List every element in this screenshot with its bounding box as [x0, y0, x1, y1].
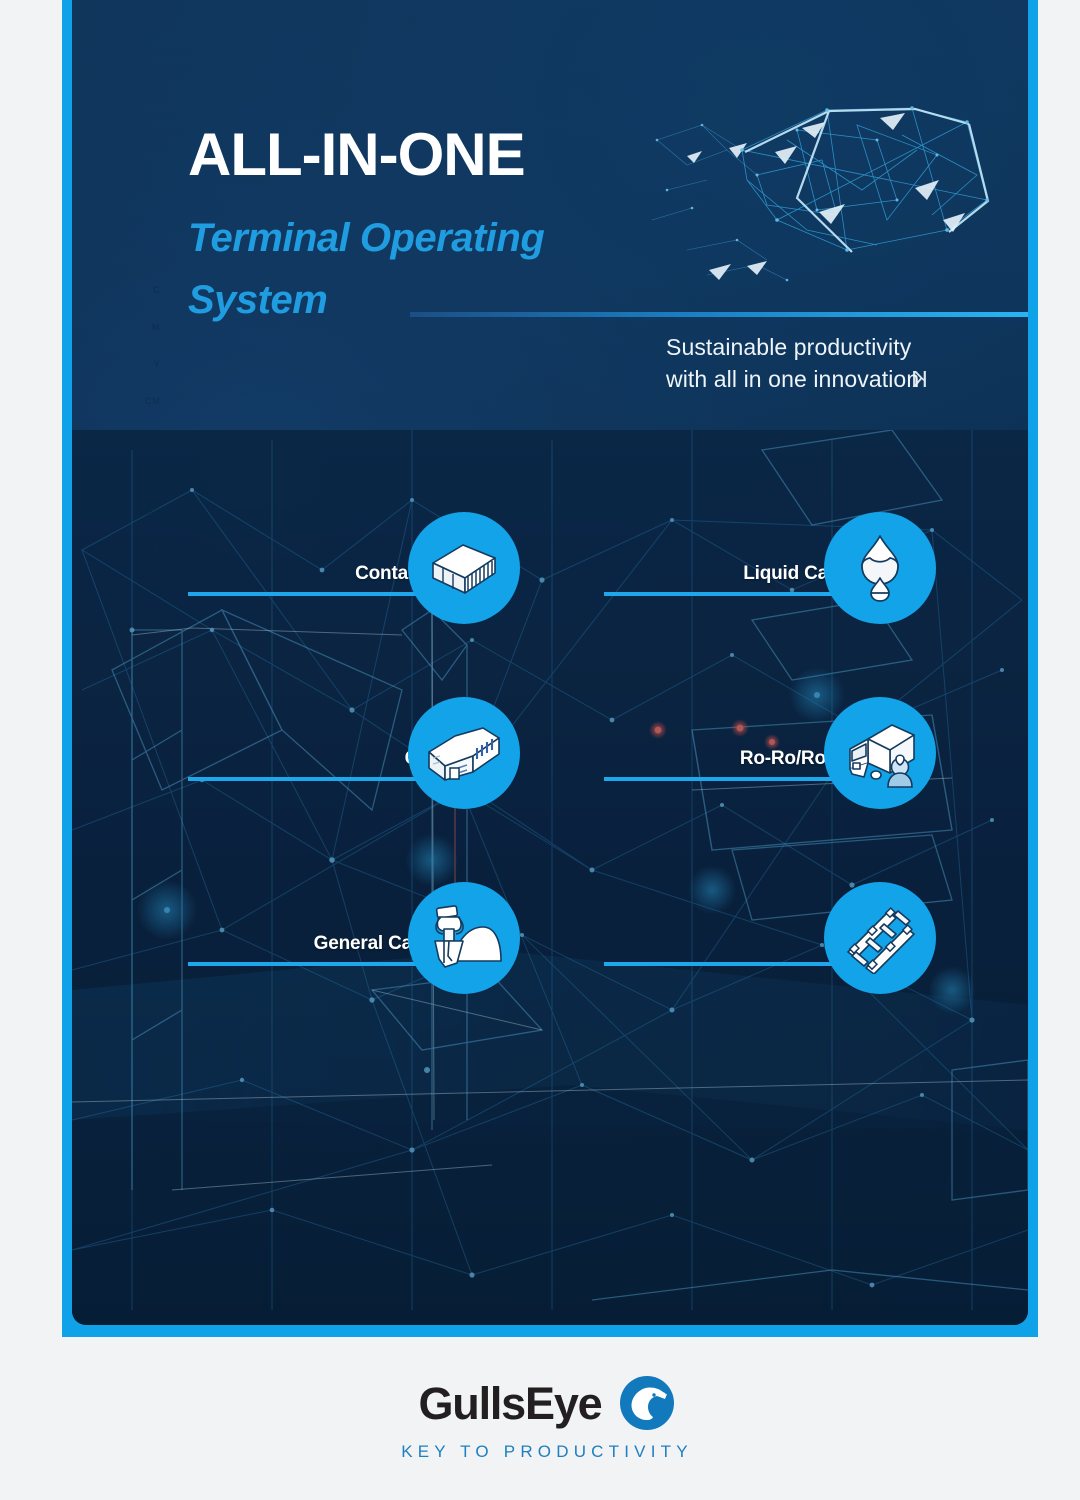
service-item-general-cargo[interactable]: General Cargo	[188, 882, 520, 994]
shipping-container-icon	[427, 531, 501, 605]
poster-page: C M Y CM MY CY CMY K	[0, 0, 1080, 1500]
service-item-liquid-cargo[interactable]: Liquid Cargo	[604, 512, 936, 624]
rail-track-icon	[842, 902, 918, 974]
logo-row: GullsEye	[418, 1375, 675, 1431]
logo-wordmark: GullsEye	[418, 1381, 601, 1426]
logo-tagline: KEY TO PRODUCTIVITY	[401, 1442, 693, 1462]
poster-panel: C M Y CM MY CY CMY K	[72, 0, 1028, 1325]
poster-frame: C M Y CM MY CY CMY K	[62, 0, 1038, 1337]
service-icon-bubble[interactable]	[408, 697, 520, 809]
liquid-droplet-icon	[846, 532, 914, 604]
brand-logo: GullsEye KEY TO PRODUCTIVITY	[401, 1375, 693, 1462]
service-icon-bubble[interactable]	[824, 882, 936, 994]
service-icon-bubble[interactable]	[824, 697, 936, 809]
footer: GullsEye KEY TO PRODUCTIVITY	[0, 1337, 1080, 1500]
service-item-rail[interactable]: Rail	[604, 882, 936, 994]
service-item-roro-ropax[interactable]: Ro-Ro/Ropax	[604, 697, 936, 809]
warehouse-icon	[425, 716, 503, 790]
service-item-container[interactable]: Container	[188, 512, 520, 624]
gull-head-circle-icon	[619, 1375, 675, 1431]
truck-passenger-icon	[840, 717, 920, 789]
service-icon-bubble[interactable]	[824, 512, 936, 624]
service-icon-bubble[interactable]	[408, 512, 520, 624]
grab-bulk-pile-icon	[425, 901, 503, 975]
service-item-cfs[interactable]: CFS	[188, 697, 520, 809]
service-grid: Container	[72, 0, 1028, 1325]
service-icon-bubble[interactable]	[408, 882, 520, 994]
